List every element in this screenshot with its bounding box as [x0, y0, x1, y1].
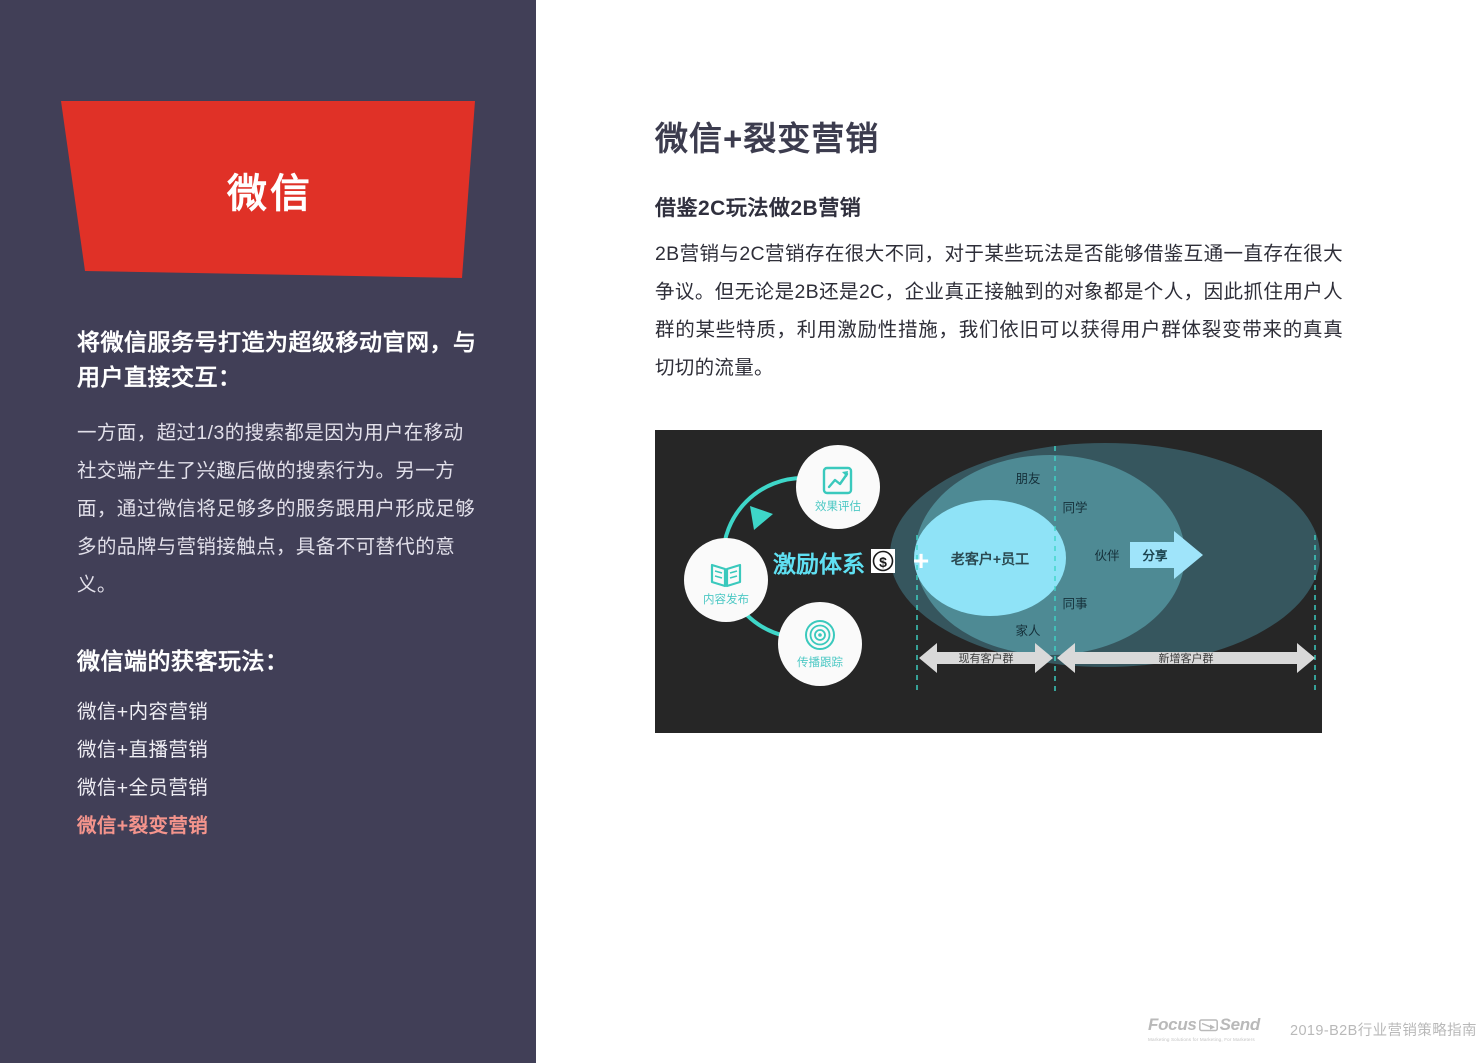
incentive-system-label: 激励体系: [773, 551, 865, 577]
banner-title: 微信: [50, 95, 490, 290]
logo-word-send: Send: [1220, 1015, 1260, 1035]
footer: Focus Send Marketing Solutions for Marke…: [1148, 1010, 1448, 1050]
body-paragraph: 2B营销与2C营销存在很大不同，对于某些玩法是否能够借鉴互通一直存在很大争议。但…: [655, 235, 1343, 387]
list-item[interactable]: 微信+内容营销: [77, 693, 477, 731]
cycle-node-label: 传播跟踪: [797, 655, 843, 669]
venn-ring-label-colleague: 同事: [1062, 597, 1087, 611]
cycle-node-effect-evaluation[interactable]: 效果评估: [796, 445, 880, 529]
page-title: 微信+裂变营销: [655, 112, 879, 160]
cycle-node-spread-tracking[interactable]: 传播跟踪: [778, 602, 862, 686]
focussend-logo: Focus Send Marketing Solutions for Marke…: [1148, 1015, 1260, 1042]
cycle-arrow-head: [750, 506, 773, 530]
sidebar-heading: 将微信服务号打造为超级移动官网，与用户直接交互：: [77, 325, 477, 394]
sidebar-list-heading: 微信端的获客玩法：: [77, 644, 477, 679]
scale-label-new: 新增客户群: [1159, 651, 1214, 665]
plus-sign: +: [913, 545, 929, 576]
currency-symbol: $: [879, 554, 887, 570]
logo-tagline: Marketing Solutions for Marketing, For M…: [1148, 1037, 1260, 1042]
venn-ring-label-partner: 伙伴: [1094, 549, 1120, 563]
radar-target-icon: [806, 621, 834, 649]
scale-label-existing: 现有客户群: [959, 651, 1014, 665]
footer-guide-title: 2019-B2B行业营销策略指南: [1290, 1019, 1476, 1040]
share-arrow-label: 分享: [1142, 548, 1168, 563]
cycle-node-label: 效果评估: [815, 499, 861, 513]
fission-marketing-diagram: 老客户+员工 朋友 同学 伙伴 同事 家人 分享 现有客户群 新增客户群: [655, 430, 1322, 733]
currency-badge: $: [871, 549, 895, 573]
list-item[interactable]: 微信+直播营销: [77, 731, 477, 769]
content-panel: 微信+裂变营销 借鉴2C玩法做2B营销 2B营销与2C营销存在很大不同，对于某些…: [536, 0, 1476, 1063]
venn-inner-label: 老客户+员工: [951, 551, 1029, 567]
list-item-active[interactable]: 微信+裂变营销: [77, 807, 477, 845]
venn-ring-label-classmate: 同学: [1062, 500, 1087, 515]
diagram-canvas: 老客户+员工 朋友 同学 伙伴 同事 家人 分享 现有客户群 新增客户群: [655, 430, 1322, 733]
list-item[interactable]: 微信+全员营销: [77, 769, 477, 807]
section-subtitle: 借鉴2C玩法做2B营销: [655, 192, 861, 222]
wechat-tactics-list: 微信+内容营销 微信+直播营销 微信+全员营销 微信+裂变营销: [77, 693, 477, 845]
envelope-arrow-icon: [1199, 1018, 1218, 1032]
cycle-node-content-publish[interactable]: 内容发布: [684, 538, 768, 622]
logo-word-focus: Focus: [1148, 1015, 1197, 1035]
sidebar-paragraph: 一方面，超过1/3的搜索都是因为用户在移动社交端产生了兴趣后做的搜索行为。另一方…: [77, 414, 477, 604]
venn-ring-label-family: 家人: [1015, 623, 1041, 638]
sidebar-body: 将微信服务号打造为超级移动官网，与用户直接交互： 一方面，超过1/3的搜索都是因…: [77, 325, 477, 845]
cycle-node-label: 内容发布: [703, 592, 749, 606]
venn-ring-label-friend: 朋友: [1015, 472, 1040, 486]
sidebar: 微信 将微信服务号打造为超级移动官网，与用户直接交互： 一方面，超过1/3的搜索…: [0, 0, 536, 1063]
wechat-banner: 微信: [50, 95, 490, 290]
